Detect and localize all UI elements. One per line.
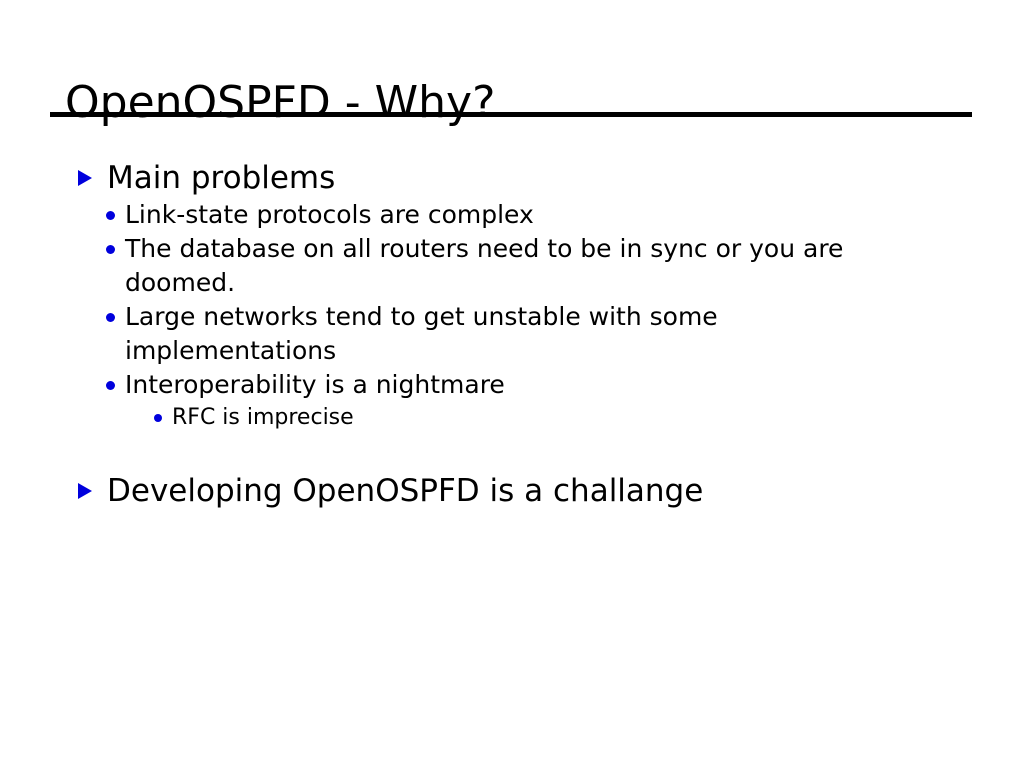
list-item: Link-state protocols are complex	[0, 198, 1024, 232]
list-item: Developing OpenOSPFD is a challange	[0, 471, 1024, 511]
list-item: Large networks tend to get unstable with…	[0, 300, 1024, 368]
list-item: Interoperability is a nightmare	[0, 368, 1024, 402]
title-underline-rule	[50, 112, 972, 117]
list-item-label: Large networks tend to get unstable with…	[125, 300, 894, 368]
list-item: RFC is imprecise	[0, 402, 1024, 434]
list-item: The database on all routers need to be i…	[0, 232, 1024, 300]
dot-bullet-icon	[106, 381, 115, 390]
list-item-label: The database on all routers need to be i…	[125, 232, 894, 300]
slide: OpenOSPFD - Why? Main problems Link-stat…	[0, 0, 1024, 768]
list-item-label: Link-state protocols are complex	[125, 198, 894, 232]
dot-bullet-icon	[154, 414, 162, 422]
page-title: OpenOSPFD - Why?	[65, 76, 495, 130]
list-item-label: Developing OpenOSPFD is a challange	[107, 471, 984, 511]
list-item-label: Main problems	[107, 158, 984, 198]
triangle-bullet-icon	[78, 170, 92, 186]
list-item-label: RFC is imprecise	[172, 402, 894, 434]
list-item: Main problems	[0, 158, 1024, 198]
outline-body: Main problems Link-state protocols are c…	[0, 158, 1024, 511]
dot-bullet-icon	[106, 211, 115, 220]
list-item-label: Interoperability is a nightmare	[125, 368, 894, 402]
blank-line-spacer	[0, 434, 1024, 471]
dot-bullet-icon	[106, 245, 115, 254]
dot-bullet-icon	[106, 313, 115, 322]
triangle-bullet-icon	[78, 483, 92, 499]
